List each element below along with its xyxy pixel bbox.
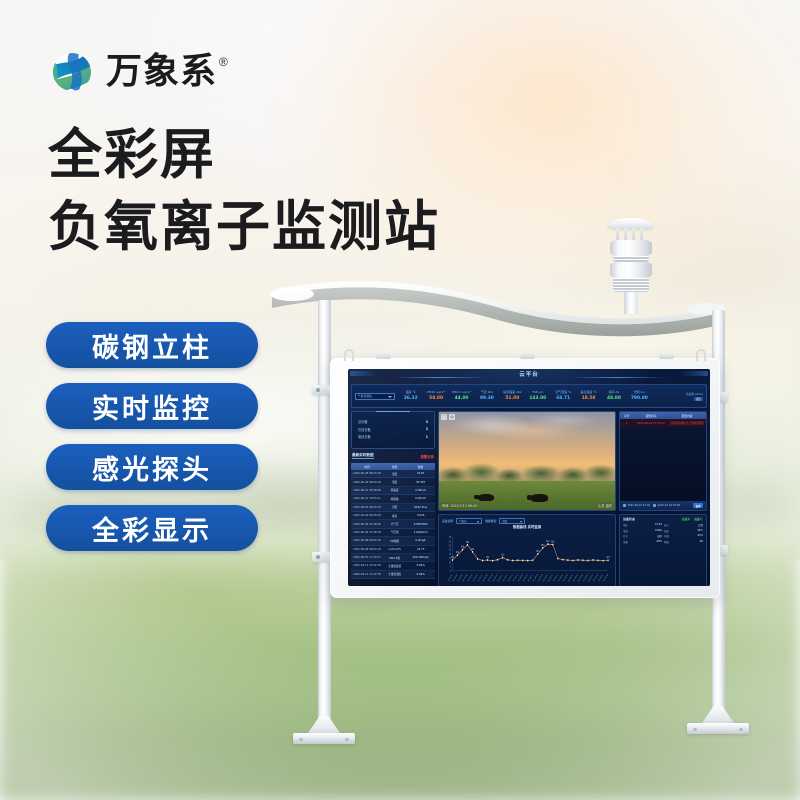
feature-pill-full-color-display[interactable]: 全彩显示 <box>46 505 258 551</box>
chart-data-point <box>537 553 538 555</box>
table-row[interactable]: 2022-05-11 13:22:38土壤温度值0.09% <box>351 562 435 570</box>
metric-item: 温度 ℃ 36.32 <box>398 391 423 402</box>
sensor-rib-band-lower <box>613 278 649 292</box>
chart-data-point <box>557 558 558 560</box>
base-plate-left <box>293 718 355 744</box>
table-row[interactable]: 2022-06-30 13:38:18气压值1.00a5mm <box>351 529 435 537</box>
status-value: 4G <box>700 540 703 544</box>
chart-data-point <box>577 559 578 561</box>
records-table-header: 时间 类型 数值 <box>351 463 435 470</box>
device-status-col-right: 运行正常温度36℃存储62%网络4G <box>664 523 703 584</box>
cell-type: 气压值 <box>383 530 407 534</box>
dashboard-screen[interactable]: 云平台 气象监测站 温度 ℃ 36.32 PM10 ug/m³ 58.0 <box>348 369 710 586</box>
metric-label: 噪声 db <box>601 391 626 395</box>
base-bolt-hole <box>345 738 349 741</box>
stat-key: 离线设备 <box>358 434 371 439</box>
chart-data-point <box>582 559 583 561</box>
ultrasonic-weather-sensor-icon <box>600 218 662 314</box>
metric-item: PM10 ug/m³ 58.00 <box>423 391 448 402</box>
chart-data-point <box>547 543 548 545</box>
dashboard-header: 云平台 <box>348 369 710 384</box>
metric-value: 44.00 <box>449 396 474 402</box>
chart-point-label: 15.2 <box>501 554 505 556</box>
chart-data-point <box>607 559 608 561</box>
status-key: 电压 <box>623 523 628 527</box>
y-axis-tick: 0 <box>450 569 451 573</box>
chart-point-label: 19.5 <box>536 551 540 553</box>
snapshot-icon[interactable]: ◎ <box>449 414 455 420</box>
metric-label: 空气湿度 % <box>550 391 575 395</box>
page-title: 全彩屏 负氧离子监测站 <box>48 126 440 257</box>
status-value: 36℃ <box>697 529 703 533</box>
device-stats-box: 总设备 3 在线设备 2 离线设备 1 <box>351 411 435 449</box>
metric-label: 气压 kPa <box>474 391 499 395</box>
chart-plot-area: 051015202530354012.506-28 0118.206-28 02… <box>442 530 612 584</box>
metric-value: 51.00 <box>500 396 525 402</box>
status-key: 电流 <box>623 529 628 533</box>
metric-label: PM2.5 ug/m³ <box>449 391 474 395</box>
status-row: 电量88% <box>623 540 662 544</box>
cabinet-tab <box>520 354 535 359</box>
chart-filter-label-2: 数据类型 <box>485 519 496 523</box>
logout-button[interactable]: 退出 <box>694 397 703 401</box>
feature-list: 碳钢立柱 实时监控 感光探头 全彩显示 <box>46 322 258 551</box>
cell-value: 1.00a5mm <box>406 531 435 534</box>
stat-row: 在线设备 2 <box>358 427 428 432</box>
chart-point-label: 12.5 <box>451 557 455 559</box>
chart-data-point <box>567 559 568 561</box>
status-tag-offline: 离线 1 <box>693 517 703 521</box>
metric-value: 143.00 <box>525 396 550 402</box>
chart-data-point <box>497 559 498 561</box>
chart-title: 数据曲线 实时监测 <box>439 524 615 529</box>
chart-point-label: 31.2 <box>546 541 550 543</box>
metric-value: 99.30 <box>474 396 499 402</box>
status-value: 12.6V <box>655 523 662 527</box>
y-axis-tick: 5 <box>450 565 451 569</box>
alarm-date-from: 2022-06-01 07:00 <box>628 504 651 507</box>
cell-time: 2022-06-28 08:03:18 <box>351 481 383 484</box>
chart-point-label: 12.4 <box>486 557 490 559</box>
table-row[interactable]: 2022-06-08 00:03:18PM值值0.4mg/L <box>351 537 435 545</box>
cell-time: 2022-06-27 18:48:08 <box>351 489 383 492</box>
metric-strip: 气象监测站 温度 ℃ 36.32 PM10 ug/m³ 58.00 PM2.5 … <box>351 384 707 408</box>
status-key: 电量 <box>623 540 628 544</box>
alarm-content: 温度传感器超过上限阈值报警 <box>668 421 706 425</box>
cell-value: 0.00mm <box>406 497 435 500</box>
column-header-time: 时间 <box>351 465 383 469</box>
column-header-value: 数值 <box>406 465 435 469</box>
cell-value: 31.87 <box>406 472 435 475</box>
welcome-text: 欢迎您 admin <box>686 392 703 396</box>
cell-time: 2022-06-30 13:38:18 <box>351 531 383 534</box>
chart-data-point <box>527 560 528 562</box>
chart-point-label: 12.2 <box>606 557 610 559</box>
alarm-search-button[interactable]: 查询 <box>693 503 703 508</box>
cell-time: 2022-05-11 13:22:38 <box>351 564 383 567</box>
metric-value: 18.58 <box>576 396 601 402</box>
expand-icon[interactable]: ⛶ <box>441 414 447 420</box>
metric-item: 噪声 db 48.00 <box>601 391 626 402</box>
device-status-panel: 设备状态 在线 2 离线 1 电压12.6V电流0.82A信号良好电量88% 运… <box>619 514 707 586</box>
chart-data-point <box>457 554 458 556</box>
chart-point-label: 24.6 <box>461 546 465 548</box>
chart-data-point <box>472 551 473 553</box>
cell-type: co2/co2% <box>383 548 407 551</box>
cell-time: 2022-06-20 06:03:18 <box>351 506 383 509</box>
alarm-date-to: 2022-07-01 07:00 <box>658 504 681 507</box>
chart-data-point <box>452 559 453 561</box>
records-panel-header: 最新实时数据 报警记录 <box>351 452 435 460</box>
status-key: 运行 <box>664 523 669 527</box>
cabinet-hook-right <box>696 349 706 361</box>
status-row: 运行正常 <box>664 523 703 527</box>
headline-line-2: 负氧离子监测站 <box>48 198 440 256</box>
cell-type: 风速度 <box>383 488 407 492</box>
cell-value: 0.0db <box>406 514 435 517</box>
cell-time: 2022-06-08 00:03:18 <box>351 539 383 542</box>
cell-type: 降雨量 <box>383 497 407 501</box>
feature-label: 全彩显示 <box>92 509 212 548</box>
metric-list: 温度 ℃ 36.32 PM10 ug/m³ 58.00 PM2.5 ug/m³ … <box>398 385 652 407</box>
cell-value: 0.09% <box>406 564 435 567</box>
sensor-lower-body <box>610 262 652 278</box>
base-plate-right <box>687 708 749 734</box>
chart-data-point <box>587 559 588 561</box>
chart-data-point <box>552 544 553 546</box>
table-row[interactable]: 2022-06-28 08:03:18温度31.87 <box>351 470 435 478</box>
chart-data-point <box>487 559 488 561</box>
feature-pill-realtime-monitoring[interactable]: 实时监控 <box>46 383 258 429</box>
chart-data-point <box>602 560 603 562</box>
feature-pill-light-sensor-probe[interactable]: 感光探头 <box>46 444 258 490</box>
y-axis-tick: 20 <box>449 553 451 557</box>
cell-value: 0.09% <box>406 573 435 576</box>
records-row-group: 2022-06-28 08:03:18温度31.872022-06-28 08:… <box>351 470 435 579</box>
stat-row: 离线设备 1 <box>358 434 428 439</box>
base-bolt-hole <box>739 728 743 731</box>
cell-value: 18.73 <box>406 548 435 551</box>
base-bolt-hole <box>693 728 697 731</box>
live-video-feed[interactable]: ⛶ ◎ 时间: 2022/7/13 06:42 山东 潍坊 <box>438 411 616 511</box>
metric-label: PM10 ug/m³ <box>423 391 448 395</box>
chart-data-point <box>462 549 463 551</box>
chart-data-point <box>507 559 508 561</box>
metric-label: TSP μm <box>525 391 550 395</box>
table-row[interactable]: 2022-06-20 06:03:18光照0192.3lux <box>351 504 435 512</box>
alarm-index: 1 <box>620 422 634 425</box>
feature-label: 感光探头 <box>92 448 212 487</box>
table-row[interactable]: 2022-05-11 13:32:38土壤温湿度0.09% <box>351 571 435 579</box>
device-status-title: 设备状态 <box>623 517 635 521</box>
alarm-panel[interactable]: 序号 报警时间 报警内容 1 2022-06-28 07:15:22 温度传感器… <box>619 411 707 511</box>
chart-point-label: 30.6 <box>551 541 555 543</box>
video-location-tag: 山东 潍坊 <box>598 503 612 508</box>
metric-item: 气压 kPa 99.30 <box>474 391 499 402</box>
metric-label: 噪音强度 dbz <box>500 391 525 395</box>
chart-point-label: 22.1 <box>471 549 475 551</box>
y-axis-tick: 40 <box>449 536 451 540</box>
video-tree-layer <box>439 451 615 484</box>
metric-label: 温度 ℃ <box>398 391 423 395</box>
status-row: 温度36℃ <box>664 529 703 533</box>
base-bolt-hole <box>299 738 303 741</box>
chart-point-label: 30.4 <box>466 542 470 544</box>
table-row[interactable]: 2022-06-28 08:03:18湿度52.387 <box>351 478 435 486</box>
chart-data-point <box>502 557 503 559</box>
data-chart-panel: 设备选择 气象站 数据类型 温度 数据曲线 实时监测 0510152025303… <box>438 514 616 586</box>
alarm-row: 1 2022-06-28 07:15:22 温度传感器超过上限阈值报警 <box>620 419 706 427</box>
dashboard-title: 云平台 <box>348 370 710 378</box>
stat-key: 在线设备 <box>358 427 371 432</box>
status-value: 62% <box>698 534 703 538</box>
metric-item: PM2.5 ug/m³ 44.00 <box>449 391 474 402</box>
cell-type: 噪音 <box>383 514 407 518</box>
chart-data-point <box>532 559 533 561</box>
column-header-type: 类型 <box>383 465 407 469</box>
device-status-tags: 在线 2 离线 1 <box>681 517 703 521</box>
cell-type: PM2.5值 <box>383 556 407 560</box>
alarm-column-content: 报警内容 <box>668 414 706 418</box>
status-row: 电流0.82A <box>623 529 662 533</box>
chart-data-point <box>597 559 598 561</box>
metric-value: 58.00 <box>423 396 448 402</box>
cell-time: 2022-05-11 13:32:38 <box>351 573 383 576</box>
metric-value: 48.00 <box>601 396 626 402</box>
brand-name: 万象系 <box>106 54 217 90</box>
table-row[interactable]: 2022-06-27 18:48:08风速度0.38m/s <box>351 487 435 495</box>
status-key: 网络 <box>664 540 669 544</box>
metric-value: 790.00 <box>627 396 652 402</box>
alarm-date-from-wrap[interactable]: 2022-06-01 07:00 <box>623 504 650 507</box>
video-cow <box>531 494 548 502</box>
metric-value: 36.32 <box>398 396 423 402</box>
y-axis-tick: 25 <box>449 548 451 552</box>
cell-value: 0.38m/s <box>406 489 435 492</box>
feature-label: 碳钢立柱 <box>92 326 212 365</box>
cell-value: 0.4mg/L <box>406 539 435 542</box>
alarm-footer: 2022-06-01 07:00 2022-07-01 07:00 查询 <box>620 501 706 510</box>
chart-filter-label-1: 设备选择 <box>442 519 453 523</box>
alarm-column-index: 序号 <box>620 414 634 418</box>
table-row[interactable]: 2022-06-30 13:38:28大气压0.98765kP <box>351 520 435 528</box>
device-status-header: 设备状态 在线 2 离线 1 <box>623 517 703 521</box>
table-row[interactable]: 2022-06-21 16:53:11降雨量0.00mm <box>351 495 435 503</box>
cell-time: 2022-06-20 06:58:28 <box>351 514 383 517</box>
status-tag-online: 在线 2 <box>681 517 691 521</box>
video-cow <box>478 494 494 501</box>
chart-device-value: 气象站 <box>459 519 466 523</box>
status-key: 信号 <box>623 534 628 538</box>
chart-data-point <box>592 559 593 561</box>
cell-type: 土壤温度值 <box>383 564 407 568</box>
chart-data-point <box>477 558 478 560</box>
status-row: 电压12.6V <box>623 523 662 527</box>
trademark-symbol: ® <box>219 55 228 69</box>
cell-value: 52.387 <box>406 481 435 484</box>
cell-value: 0.98765kP <box>406 523 435 526</box>
chart-data-point <box>517 559 518 561</box>
calendar-icon <box>623 504 626 507</box>
stat-value: 3 <box>426 420 428 424</box>
feature-pill-carbon-steel-column[interactable]: 碳钢立柱 <box>46 322 258 368</box>
cell-value: 0192.3lux <box>406 506 435 509</box>
status-key: 存储 <box>664 534 669 538</box>
chart-point-label: 26.8 <box>541 545 545 547</box>
chart-data-point <box>562 559 563 561</box>
headline-line-1: 全彩屏 <box>48 126 440 184</box>
sensor-cap <box>608 218 654 229</box>
cell-type: 土壤温湿度 <box>383 572 407 576</box>
y-axis-tick: 30 <box>449 544 451 548</box>
left-column: 总设备 3 在线设备 2 离线设备 1 最新实时数据 <box>351 411 435 586</box>
chart-data-point <box>482 559 483 561</box>
metric-value: 68.71 <box>550 396 575 402</box>
metric-label: 光照 lux <box>627 391 652 395</box>
station-select-value: 气象监测站 <box>358 394 372 398</box>
chart-data-point <box>522 559 523 561</box>
alarm-table-header: 序号 报警时间 报警内容 <box>620 412 706 419</box>
chart-data-point <box>572 560 573 562</box>
calendar-icon <box>653 504 656 507</box>
metric-item: 空气湿度 % 68.71 <box>550 391 575 402</box>
cell-type: PM值值 <box>383 539 407 543</box>
status-value: 88% <box>657 540 662 544</box>
table-row[interactable]: 2022-06-20 06:58:28噪音0.0db <box>351 512 435 520</box>
status-value: 良好 <box>657 534 662 538</box>
cabinet-tab <box>376 354 391 359</box>
right-column: 序号 报警时间 报警内容 1 2022-06-28 07:15:22 温度传感器… <box>619 411 707 586</box>
station-selector-wrap: 气象监测站 <box>352 385 398 407</box>
cell-type: 光照 <box>383 505 407 509</box>
globe-swirl-logo-icon <box>48 48 96 96</box>
status-row: 存储62% <box>664 534 703 538</box>
feature-label: 实时监控 <box>92 387 212 426</box>
chart-data-point <box>542 547 543 549</box>
y-axis-tick: 10 <box>449 561 451 565</box>
brand-logo: 万象系 ® <box>48 48 228 96</box>
status-value: 0.82A <box>655 529 662 533</box>
y-axis-tick: 35 <box>449 540 451 544</box>
cabinet-tab <box>659 354 674 359</box>
metric-item: 露点温度 ℃ 18.58 <box>576 391 601 402</box>
records-panel-title: 最新实时数据 <box>352 453 374 460</box>
station-select[interactable]: 气象监测站 <box>355 393 395 400</box>
alarm-records-link[interactable]: 报警记录 <box>420 454 434 459</box>
cabinet-hook-left <box>344 349 354 361</box>
chart-data-point <box>467 544 468 546</box>
stat-value: 1 <box>426 435 428 439</box>
chart-data-point <box>492 560 493 562</box>
metric-label: 露点温度 ℃ <box>576 391 601 395</box>
stat-value: 2 <box>426 427 428 431</box>
cell-time: 2022-06-28 08:03:18 <box>351 472 383 475</box>
device-status-col-left: 电压12.6V电流0.82A信号良好电量88% <box>623 523 662 584</box>
table-row[interactable]: 2022-06-08 00:03:18co2/co2%18.73 <box>351 546 435 554</box>
stat-row: 总设备 3 <box>358 419 428 424</box>
cell-value: 102.2841μm <box>406 556 435 559</box>
stat-key: 总设备 <box>358 419 368 424</box>
status-key: 温度 <box>664 529 669 533</box>
metric-item: TSP μm 143.00 <box>525 391 550 402</box>
cell-type: 湿度 <box>383 480 407 484</box>
dashboard-body: 总设备 3 在线设备 2 离线设备 1 最新实时数据 <box>351 411 707 586</box>
status-row: 网络4G <box>664 540 703 544</box>
cell-time: 2022-06-07 11:50:47 <box>351 556 383 559</box>
sensor-mast <box>624 292 638 314</box>
status-row: 信号良好 <box>623 534 662 538</box>
video-timestamp: 时间: 2022/7/13 06:42 <box>442 503 477 508</box>
chart-data-point <box>512 560 513 562</box>
center-column: ⛶ ◎ 时间: 2022/7/13 06:42 山东 潍坊 设备选择 气象站 <box>438 411 616 586</box>
alarm-date-to-wrap[interactable]: 2022-07-01 07:00 <box>653 504 680 507</box>
status-value: 正常 <box>698 523 703 527</box>
header-user-area: 欢迎您 admin 退出 <box>652 385 706 407</box>
metric-item: 光照 lux 790.00 <box>627 391 652 402</box>
sensor-upper-body <box>610 240 652 256</box>
video-controls[interactable]: ⛶ ◎ <box>441 414 455 420</box>
chart-type-value: 温度 <box>502 519 507 523</box>
table-row[interactable]: 2022-06-07 11:50:47PM2.5值102.2841μm <box>351 554 435 562</box>
cell-time: 2022-06-08 00:03:18 <box>351 548 383 551</box>
metric-item: 噪音强度 dbz 51.00 <box>500 391 525 402</box>
device-status-grid: 电压12.6V电流0.82A信号良好电量88% 运行正常温度36℃存储62%网络… <box>623 523 703 584</box>
x-axis-tick: 06-29 08 <box>603 573 609 582</box>
chart-line-series <box>452 544 608 561</box>
cell-time: 2022-06-21 16:53:11 <box>351 497 383 500</box>
cell-time: 2022-06-30 13:38:28 <box>351 523 383 526</box>
chart-point-label: 18.2 <box>456 552 460 554</box>
alarm-column-time: 报警时间 <box>634 414 668 418</box>
chart-axes <box>452 537 608 571</box>
alarm-time: 2022-06-28 07:15:22 <box>634 422 668 425</box>
records-table[interactable]: 时间 类型 数值 2022-06-28 08:03:18温度31.872022-… <box>351 463 435 586</box>
cell-type: 大气压 <box>383 522 407 526</box>
led-display-cabinet: 云平台 气象监测站 温度 ℃ 36.32 PM10 ug/m³ 58.0 <box>330 358 720 598</box>
cell-type: 温度 <box>383 472 407 476</box>
